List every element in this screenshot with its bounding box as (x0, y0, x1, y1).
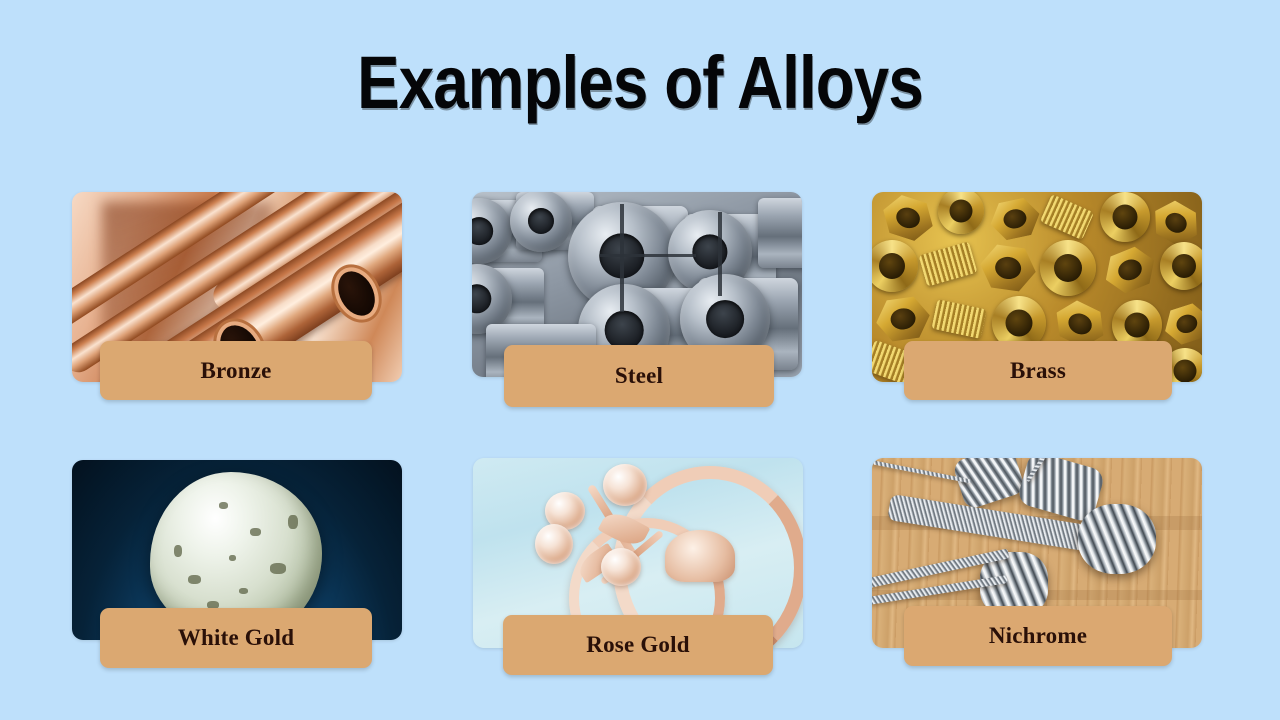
alloy-card-brass[interactable]: Brass (872, 192, 1202, 382)
alloy-label-brass: Brass (904, 341, 1172, 400)
alloy-card-nichrome[interactable]: Nichrome (872, 458, 1202, 648)
page-title: Examples of Alloys (90, 46, 1191, 120)
alloy-label-white-gold: White Gold (100, 608, 372, 668)
alloy-card-bronze[interactable]: Bronze (72, 192, 402, 382)
alloy-label-steel: Steel (504, 345, 774, 407)
slide-canvas: Examples of Alloys Bronze (0, 0, 1280, 720)
alloy-card-white-gold[interactable]: White Gold (72, 460, 402, 640)
alloy-label-rose-gold: Rose Gold (503, 615, 773, 675)
alloy-label-bronze: Bronze (100, 341, 372, 400)
alloy-card-steel[interactable]: Steel (472, 192, 802, 377)
alloy-label-nichrome: Nichrome (904, 606, 1172, 666)
alloy-card-rose-gold[interactable]: Rose Gold (473, 458, 803, 648)
